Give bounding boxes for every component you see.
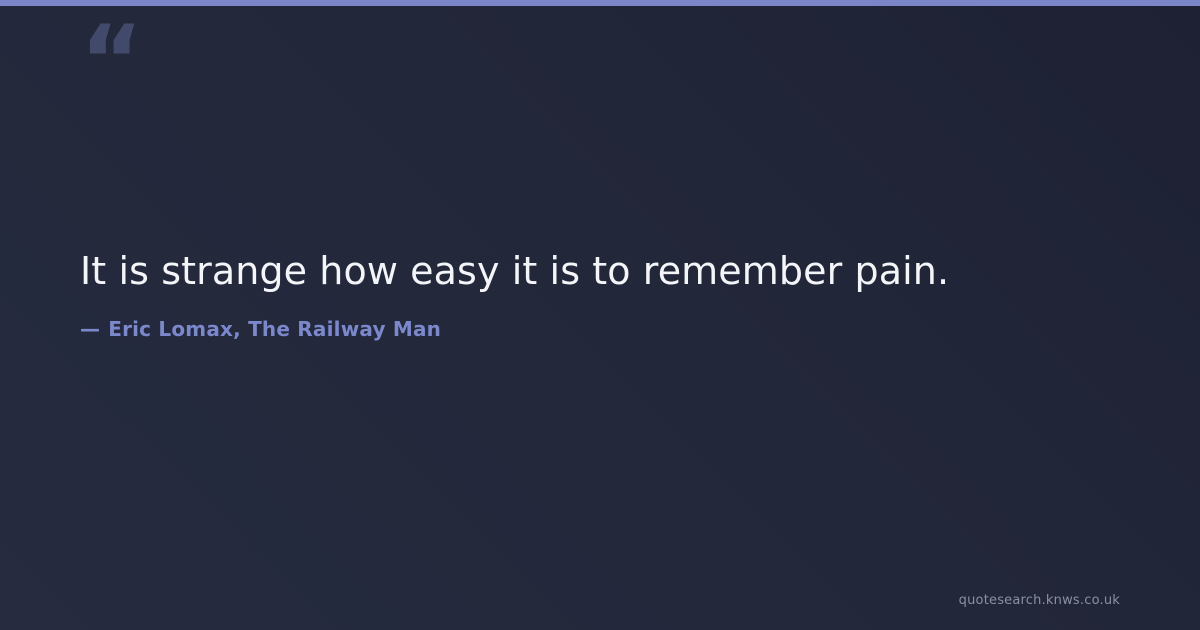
site-watermark: quotesearch.knws.co.uk bbox=[959, 593, 1120, 608]
quote-content-block: It is strange how easy it is to remember… bbox=[80, 246, 1120, 342]
attribution-author-and-source: Eric Lomax, The Railway Man bbox=[108, 317, 441, 341]
quote-attribution: —Eric Lomax, The Railway Man bbox=[80, 316, 1120, 342]
attribution-dash: — bbox=[80, 317, 100, 341]
quote-text: It is strange how easy it is to remember… bbox=[80, 246, 1120, 296]
quote-card: “ It is strange how easy it is to rememb… bbox=[0, 0, 1200, 630]
open-quote-mark-icon: “ bbox=[80, 6, 200, 116]
